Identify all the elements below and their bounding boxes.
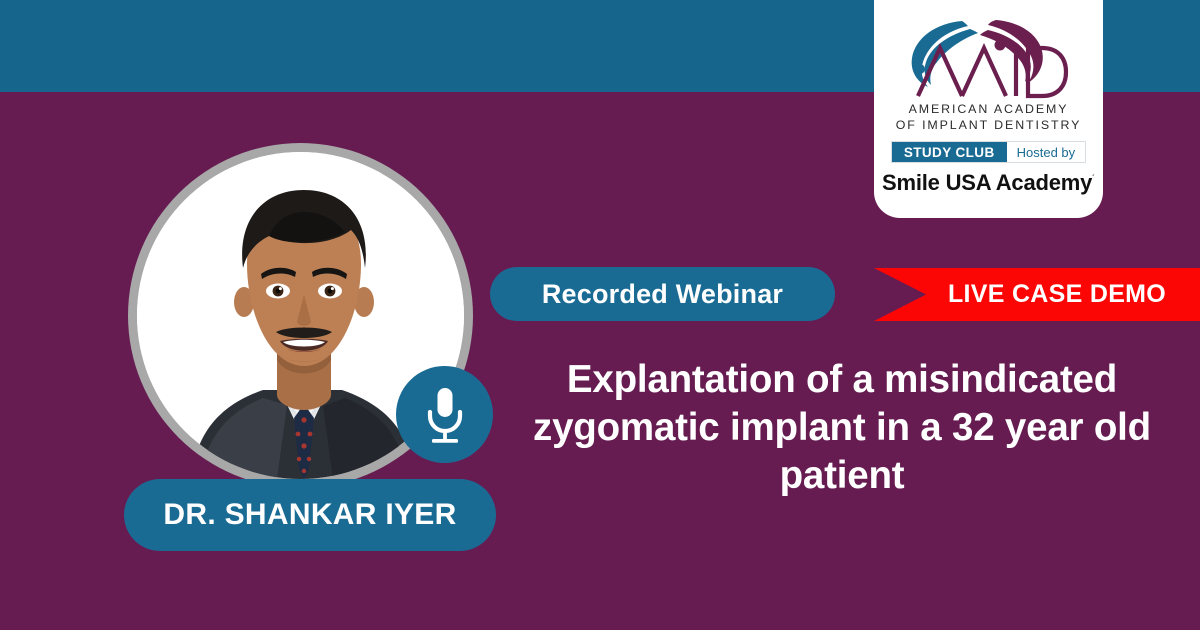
- speaker-name: DR. SHANKAR IYER: [163, 498, 456, 532]
- live-case-demo-label: LIVE CASE DEMO: [948, 280, 1166, 309]
- recorded-webinar-pill: Recorded Webinar: [490, 267, 835, 321]
- microphone-badge: [396, 366, 493, 463]
- recorded-webinar-label: Recorded Webinar: [542, 279, 783, 310]
- aaid-logo-mark: [900, 14, 1078, 100]
- aaid-logo-card: AMERICAN ACADEMY OF IMPLANT DENTISTRY ST…: [874, 0, 1103, 218]
- speaker-name-pill: DR. SHANKAR IYER: [124, 479, 496, 551]
- aaid-name-line-2: OF IMPLANT DENTISTRY: [896, 117, 1082, 133]
- host-name: Smile USA Academy´: [882, 170, 1095, 196]
- trademark-symbol: ´: [1092, 174, 1095, 184]
- hosted-by-badge: Hosted by: [1007, 142, 1086, 162]
- webinar-promo-card: AMERICAN ACADEMY OF IMPLANT DENTISTRY ST…: [0, 0, 1200, 630]
- microphone-icon: [423, 386, 467, 444]
- study-club-badge-group: STUDY CLUB Hosted by: [891, 141, 1086, 163]
- study-club-badge: STUDY CLUB: [892, 142, 1007, 162]
- host-name-text: Smile USA Academy: [882, 170, 1092, 195]
- page-title: Explantation of a misindicated zygomatic…: [516, 356, 1168, 500]
- aaid-name-line-1: AMERICAN ACADEMY: [909, 101, 1069, 117]
